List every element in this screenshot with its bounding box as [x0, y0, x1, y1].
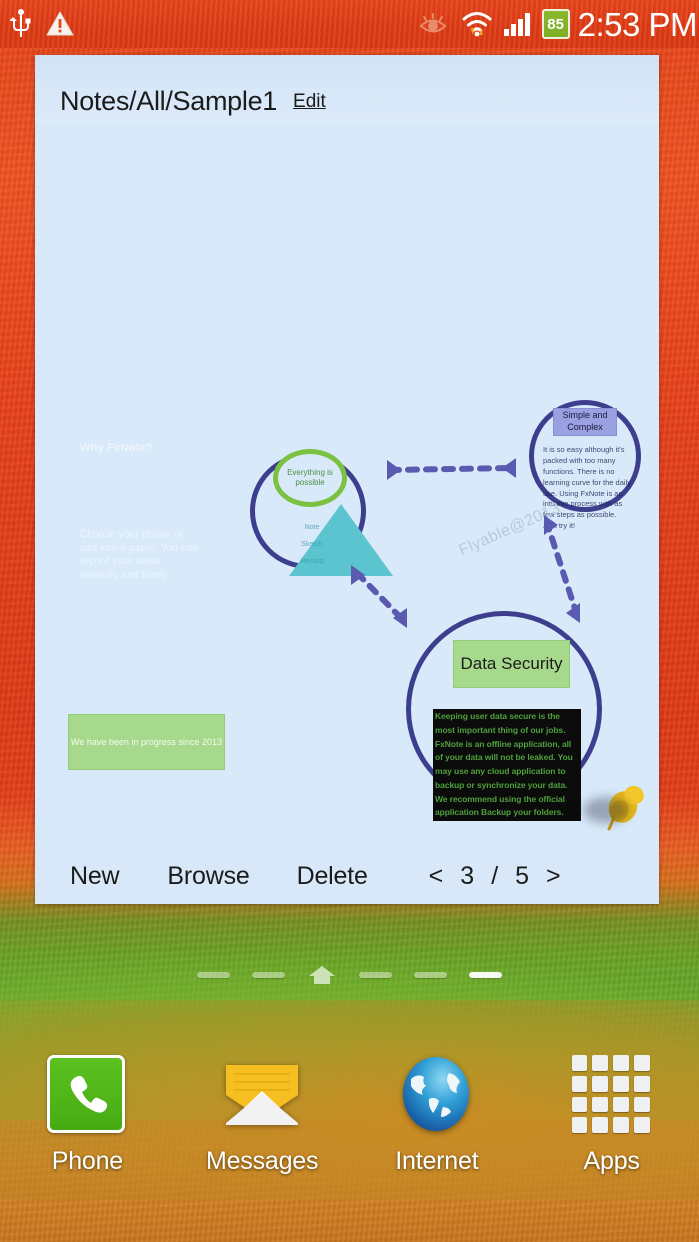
total-pages-label: 5	[515, 862, 529, 891]
arrow-left-to-bottom	[357, 573, 403, 620]
delete-button[interactable]: Delete	[297, 862, 368, 891]
note-canvas[interactable]: Why FxNote? Choose your phone or pad int…	[35, 123, 659, 849]
data-security-label: Data Security	[453, 640, 570, 688]
page-dot-6[interactable]	[469, 972, 502, 978]
page-dot-4[interactable]	[359, 972, 392, 978]
globe-glyph	[397, 1055, 475, 1133]
globe-icon[interactable]	[397, 1055, 477, 1135]
status-bar-clock: 2:53 PM	[578, 8, 697, 41]
new-button[interactable]: New	[70, 862, 119, 891]
apps-grid-cell	[592, 1117, 608, 1133]
wifi-icon	[460, 9, 494, 39]
dock-label-apps: Apps	[584, 1147, 640, 1176]
edit-link[interactable]: Edit	[293, 91, 326, 117]
next-page-button[interactable]: >	[546, 862, 561, 891]
arrow-bottom-to-topright	[547, 523, 577, 615]
apps-grid-cell	[592, 1055, 608, 1071]
pushpin-icon[interactable]	[583, 775, 653, 835]
dock-item-internet[interactable]: Internet	[362, 1055, 512, 1176]
apps-grid-cell	[572, 1055, 588, 1071]
pager[interactable]: < 3 / 5 >	[429, 862, 561, 891]
arrow-left-to-topright	[390, 468, 513, 470]
envelope-icon[interactable]	[222, 1055, 302, 1135]
phone-handset-glyph	[64, 1072, 108, 1116]
battery-icon: 85	[542, 9, 570, 39]
status-bar-left-icons	[0, 9, 74, 39]
pushpin-shadow	[583, 797, 629, 823]
status-bar-right-icons: 85 2:53 PM	[418, 8, 699, 41]
dock-item-phone[interactable]: Phone	[12, 1055, 162, 1176]
apps-grid-cell	[572, 1076, 588, 1092]
progress-box: We have been in progress since 2013	[68, 714, 225, 770]
apps-grid-cell	[613, 1117, 629, 1133]
page-dot-1[interactable]	[197, 972, 230, 978]
apps-grid-cell	[613, 1097, 629, 1113]
apps-grid-icon[interactable]	[572, 1055, 652, 1135]
home-page-indicator[interactable]	[0, 960, 699, 990]
battery-percent-label: 85	[547, 16, 564, 33]
note-toolbar[interactable]: New Browse Delete < 3 / 5 >	[35, 849, 659, 904]
apps-grid-cell	[592, 1097, 608, 1113]
note-breadcrumb-title: Notes/All/Sample1	[60, 86, 277, 117]
envelope-glyph	[222, 1061, 302, 1129]
pyramid-line-1: Note Sketch Record	[257, 519, 367, 570]
home-dock[interactable]: Phone Messages	[0, 1045, 699, 1242]
apps-grid-cell	[613, 1055, 629, 1071]
status-bar[interactable]: 85 2:53 PM	[0, 0, 699, 48]
dock-label-internet: Internet	[395, 1147, 478, 1176]
why-fxnote-paragraph: Choose your phone or pad into a paper. Y…	[80, 528, 200, 582]
data-security-body[interactable]: Keeping user data secure is the most imp…	[433, 709, 581, 821]
apps-grid-cell	[634, 1097, 650, 1113]
browse-button[interactable]: Browse	[167, 862, 249, 891]
apps-grid-cell	[572, 1117, 588, 1133]
simple-complex-label: Simple and Complex	[553, 408, 617, 436]
page-separator: /	[491, 862, 498, 891]
prev-page-button[interactable]: <	[429, 862, 444, 891]
dock-item-messages[interactable]: Messages	[187, 1055, 337, 1176]
why-fxnote-heading: Why FxNote?	[80, 441, 210, 456]
eye-icon	[418, 10, 452, 38]
current-page-label: 3	[460, 862, 474, 891]
apps-grid-cell	[613, 1076, 629, 1092]
apps-grid-cell	[592, 1076, 608, 1092]
warning-icon	[46, 11, 74, 37]
page-dot-5[interactable]	[414, 972, 447, 978]
apps-grid-cell	[572, 1097, 588, 1113]
green-ring-label: Everything is possible	[273, 449, 347, 507]
page-dot-2[interactable]	[252, 972, 285, 978]
phone-icon[interactable]	[47, 1055, 127, 1135]
apps-grid-cell	[634, 1055, 650, 1071]
apps-grid-cell	[634, 1117, 650, 1133]
dock-label-phone: Phone	[52, 1147, 123, 1176]
signal-icon	[502, 10, 534, 38]
note-title-bar: Notes/All/Sample1 Edit	[35, 55, 659, 123]
fxnote-widget[interactable]: Notes/All/Sample1 Edit Why FxNote? Choos…	[35, 55, 659, 904]
dock-label-messages: Messages	[206, 1147, 318, 1176]
usb-icon	[10, 9, 32, 39]
dock-item-apps[interactable]: Apps	[537, 1055, 687, 1176]
home-icon[interactable]	[307, 964, 337, 986]
apps-grid-cell	[634, 1076, 650, 1092]
